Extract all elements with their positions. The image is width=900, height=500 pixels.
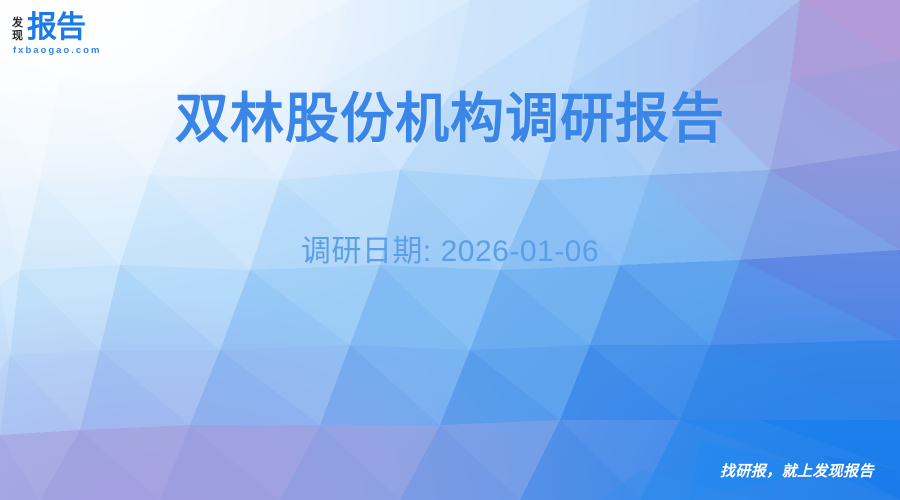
logo-wordmark-row: 发 现 报告 — [12, 10, 202, 44]
logo-mark-stack: 发 现 — [12, 17, 23, 44]
footer-tagline: 找研报，就上发现报告 — [720, 462, 874, 482]
logo-mark-bottom: 现 — [12, 30, 23, 43]
logo-url: fxbaogao.com — [13, 45, 202, 56]
logo-wordmark: 报告 — [27, 12, 85, 44]
cover-subtitle: 调研日期: 2026-01-06 — [0, 231, 900, 273]
brand-logo[interactable]: 发 现 报告 fxbaogao.com — [12, 10, 202, 56]
report-cover: 发 现 报告 fxbaogao.com 双林股份机构调研报告 调研日期: 202… — [0, 0, 900, 500]
logo-mark-top: 发 — [12, 17, 23, 30]
cover-title: 双林股份机构调研报告 — [0, 86, 900, 152]
